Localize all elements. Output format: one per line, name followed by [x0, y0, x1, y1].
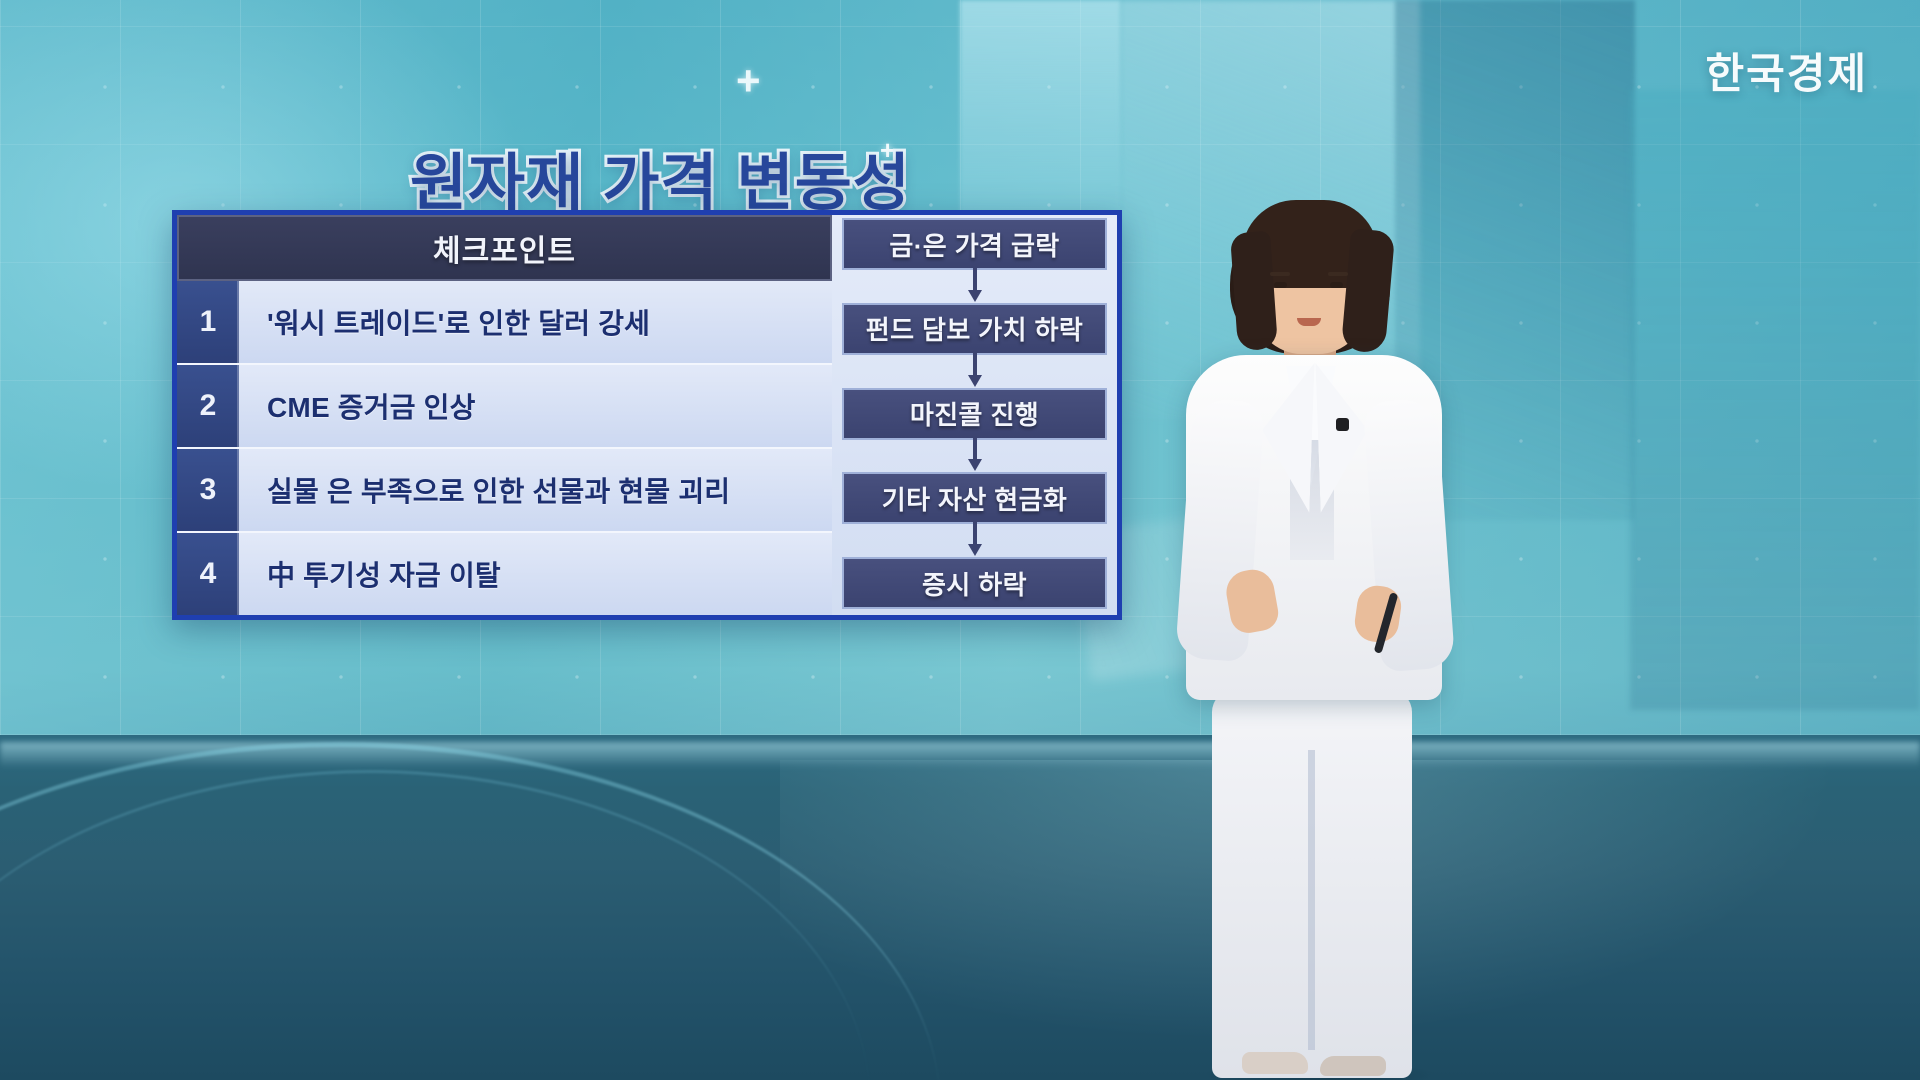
- flow-arrow-down: [842, 355, 1107, 385]
- wall-panel-dark-b: [1630, 90, 1920, 710]
- presenter-shoe-left: [1242, 1052, 1308, 1074]
- table-row: 2 CME 증거금 인상: [177, 365, 832, 449]
- row-text: CME 증거금 인상: [239, 365, 832, 447]
- checkpoint-board: 체크포인트 1 '워시 트레이드'로 인한 달러 강세 2 CME 증거금 인상…: [172, 210, 1122, 620]
- presenter: [1150, 190, 1480, 1080]
- row-text: 실물 은 부족으로 인한 선물과 현물 괴리: [239, 449, 832, 531]
- table-row: 3 실물 은 부족으로 인한 선물과 현물 괴리: [177, 449, 832, 533]
- board-inner: 체크포인트 1 '워시 트레이드'로 인한 달러 강세 2 CME 증거금 인상…: [177, 215, 1117, 615]
- presenter-hair-right: [1341, 228, 1395, 353]
- checkpoint-header: 체크포인트: [177, 215, 832, 281]
- presenter-leg-seam: [1308, 750, 1315, 1050]
- checkpoint-rows: 1 '워시 트레이드'로 인한 달러 강세 2 CME 증거금 인상 3 실물 …: [177, 281, 832, 615]
- checkpoint-column: 체크포인트 1 '워시 트레이드'로 인한 달러 강세 2 CME 증거금 인상…: [177, 215, 832, 615]
- flow-step: 증시 하락: [842, 557, 1107, 609]
- presenter-eye-left: [1274, 282, 1287, 288]
- plus-mark-icon: +: [736, 57, 761, 105]
- flow-step: 펀드 담보 가치 하락: [842, 303, 1107, 355]
- flow-step: 기타 자산 현금화: [842, 472, 1107, 524]
- row-number: 2: [177, 365, 239, 447]
- presenter-hair-left: [1230, 231, 1278, 352]
- row-number: 4: [177, 533, 239, 615]
- flow-arrow-down: [842, 440, 1107, 470]
- arrow-down-icon: [964, 522, 986, 556]
- row-text: 中 투기성 자금 이탈: [239, 533, 832, 615]
- flow-step: 마진콜 진행: [842, 388, 1107, 440]
- flow-step: 금·은 가격 급락: [842, 218, 1107, 270]
- row-number: 1: [177, 281, 239, 363]
- checkpoint-header-label: 체크포인트: [433, 226, 576, 270]
- table-row: 1 '워시 트레이드'로 인한 달러 강세: [177, 281, 832, 365]
- broadcast-screen: + + 한국경제 원자재 가격 변동성 체크포인트 1 '워시 트레이드'로 인…: [0, 0, 1920, 1080]
- flow-arrow-down: [842, 270, 1107, 300]
- arrow-down-icon: [964, 437, 986, 471]
- presenter-eyebrow-left: [1270, 272, 1290, 276]
- presenter-eye-right: [1330, 282, 1343, 288]
- flow-arrow-down: [842, 524, 1107, 554]
- page-title: 원자재 가격 변동성: [410, 132, 911, 222]
- table-row: 4 中 투기성 자금 이탈: [177, 533, 832, 615]
- presenter-lapel-microphone: [1336, 418, 1349, 431]
- broadcaster-logo: 한국경제: [1705, 40, 1868, 101]
- presenter-eyebrow-right: [1328, 272, 1348, 276]
- row-text: '워시 트레이드'로 인한 달러 강세: [239, 281, 832, 363]
- flow-column: 금·은 가격 급락 펀드 담보 가치 하락 마진콜 진행: [832, 215, 1117, 615]
- presenter-shoe-right: [1320, 1056, 1386, 1076]
- arrow-down-icon: [964, 353, 986, 387]
- row-number: 3: [177, 449, 239, 531]
- arrow-down-icon: [964, 268, 986, 302]
